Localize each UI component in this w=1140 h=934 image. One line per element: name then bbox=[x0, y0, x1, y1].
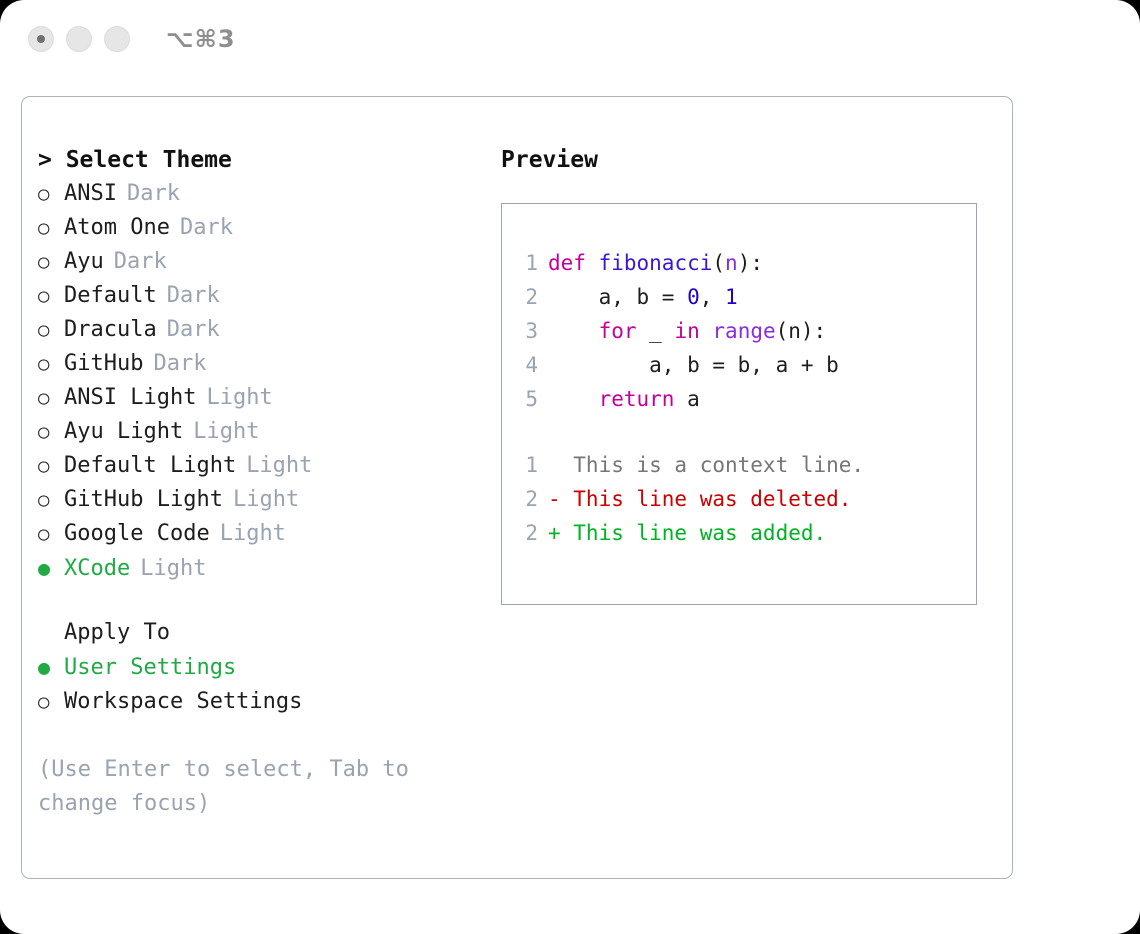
code-token bbox=[700, 319, 713, 343]
radio-selected-icon[interactable]: ● bbox=[38, 650, 64, 684]
code-token bbox=[548, 387, 599, 411]
app-window: ⌥⌘3 > Select Theme ○ANSIDark○Atom OneDar… bbox=[0, 0, 1140, 934]
window-dot-active-indicator bbox=[37, 35, 45, 43]
code-token: _ bbox=[637, 319, 675, 343]
theme-variant-tag: Dark bbox=[167, 313, 220, 347]
theme-list-item[interactable]: ○Ayu LightLight bbox=[38, 415, 478, 449]
apply-to-option[interactable]: ○Workspace Settings bbox=[38, 685, 478, 719]
radio-unselected-icon[interactable]: ○ bbox=[38, 211, 64, 245]
theme-list-item[interactable]: ○GitHubDark bbox=[38, 347, 478, 381]
theme-list-item[interactable]: ●XCodeLight bbox=[38, 551, 478, 586]
theme-list-item[interactable]: ○Google CodeLight bbox=[38, 517, 478, 551]
code-line-content: def fibonacci(n): bbox=[548, 246, 763, 280]
code-token: a, b = bbox=[548, 285, 687, 309]
code-token: ): bbox=[738, 251, 763, 275]
apply-to-option-label: User Settings bbox=[64, 651, 236, 685]
apply-to-option[interactable]: ●User Settings bbox=[38, 650, 478, 685]
code-token: , bbox=[700, 285, 725, 309]
code-line-content: return a bbox=[548, 382, 700, 416]
theme-variant-tag: Dark bbox=[114, 245, 167, 279]
theme-variant-tag: Light bbox=[233, 483, 299, 517]
code-token: n bbox=[725, 251, 738, 275]
theme-variant-tag: Dark bbox=[127, 177, 180, 211]
apply-to-section: Apply To ●User Settings○Workspace Settin… bbox=[38, 616, 478, 719]
diff-line-content: - This line was deleted. bbox=[548, 482, 851, 516]
theme-list-item[interactable]: ○Default LightLight bbox=[38, 449, 478, 483]
radio-unselected-icon[interactable]: ○ bbox=[38, 685, 64, 719]
theme-variant-tag: Light bbox=[206, 381, 272, 415]
theme-list[interactable]: ○ANSIDark○Atom OneDark○AyuDark○DefaultDa… bbox=[38, 177, 478, 586]
code-token: for bbox=[599, 319, 637, 343]
theme-name: ANSI Light bbox=[64, 381, 196, 415]
theme-name: Default Light bbox=[64, 449, 236, 483]
theme-list-item[interactable]: ○ANSIDark bbox=[38, 177, 478, 211]
radio-unselected-icon[interactable]: ○ bbox=[38, 517, 64, 551]
code-diff-spacer bbox=[502, 416, 976, 448]
radio-unselected-icon[interactable]: ○ bbox=[38, 177, 64, 211]
code-sample: 1def fibonacci(n):2 a, b = 0, 13 for _ i… bbox=[502, 246, 976, 416]
code-line-number: 3 bbox=[502, 314, 548, 348]
code-token: a, b = b, a + b bbox=[548, 353, 839, 377]
theme-name: Dracula bbox=[64, 313, 157, 347]
main-panel: > Select Theme ○ANSIDark○Atom OneDark○Ay… bbox=[21, 96, 1013, 879]
code-token: return bbox=[599, 387, 675, 411]
code-token: in bbox=[674, 319, 699, 343]
preview-box: 1def fibonacci(n):2 a, b = 0, 13 for _ i… bbox=[501, 203, 977, 605]
diff-line-number: 2 bbox=[502, 482, 548, 516]
code-line: 4 a, b = b, a + b bbox=[502, 348, 976, 382]
code-line: 3 for _ in range(n): bbox=[502, 314, 976, 348]
theme-name: Default bbox=[64, 279, 157, 313]
radio-unselected-icon[interactable]: ○ bbox=[38, 347, 64, 381]
diff-line-content: This is a context line. bbox=[548, 448, 864, 482]
code-token: range bbox=[712, 319, 775, 343]
code-token: a bbox=[674, 387, 699, 411]
code-token: 1 bbox=[725, 285, 738, 309]
theme-list-item[interactable]: ○ANSI LightLight bbox=[38, 381, 478, 415]
theme-name: Google Code bbox=[64, 517, 210, 551]
code-line-number: 2 bbox=[502, 280, 548, 314]
diff-line: 2- This line was deleted. bbox=[502, 482, 976, 516]
code-line-content: a, b = 0, 1 bbox=[548, 280, 738, 314]
diff-sample: 1 This is a context line.2- This line wa… bbox=[502, 448, 976, 550]
radio-unselected-icon[interactable]: ○ bbox=[38, 449, 64, 483]
select-theme-heading: > Select Theme bbox=[38, 143, 478, 177]
code-line: 5 return a bbox=[502, 382, 976, 416]
code-line-content: a, b = b, a + b bbox=[548, 348, 839, 382]
keyboard-hint-text: (Use Enter to select, Tab to change focu… bbox=[38, 753, 442, 821]
theme-name: GitHub Light bbox=[64, 483, 223, 517]
theme-list-item[interactable]: ○DraculaDark bbox=[38, 313, 478, 347]
preview-title: Preview bbox=[501, 143, 991, 177]
theme-list-item[interactable]: ○Atom OneDark bbox=[38, 211, 478, 245]
code-token: ( bbox=[712, 251, 725, 275]
code-line-number: 1 bbox=[502, 246, 548, 280]
theme-list-item[interactable]: ○DefaultDark bbox=[38, 279, 478, 313]
code-line: 1def fibonacci(n): bbox=[502, 246, 976, 280]
keyboard-shortcut-label: ⌥⌘3 bbox=[166, 25, 236, 53]
theme-name: XCode bbox=[64, 552, 130, 586]
theme-name: Ayu bbox=[64, 245, 104, 279]
theme-variant-tag: Light bbox=[220, 517, 286, 551]
theme-variant-tag: Light bbox=[193, 415, 259, 449]
theme-selector-column: > Select Theme ○ANSIDark○Atom OneDark○Ay… bbox=[38, 143, 478, 821]
code-token bbox=[586, 251, 599, 275]
theme-list-item[interactable]: ○AyuDark bbox=[38, 245, 478, 279]
diff-line-number: 1 bbox=[502, 448, 548, 482]
theme-list-item[interactable]: ○GitHub LightLight bbox=[38, 483, 478, 517]
theme-name: GitHub bbox=[64, 347, 143, 381]
theme-variant-tag: Dark bbox=[153, 347, 206, 381]
code-token: fibonacci bbox=[599, 251, 713, 275]
theme-variant-tag: Dark bbox=[180, 211, 233, 245]
radio-unselected-icon[interactable]: ○ bbox=[38, 279, 64, 313]
theme-name: Ayu Light bbox=[64, 415, 183, 449]
code-line-content: for _ in range(n): bbox=[548, 314, 826, 348]
radio-unselected-icon[interactable]: ○ bbox=[38, 245, 64, 279]
window-dot-maximize[interactable] bbox=[104, 26, 130, 52]
diff-line: 2+ This line was added. bbox=[502, 516, 976, 550]
code-token: 0 bbox=[687, 285, 700, 309]
radio-unselected-icon[interactable]: ○ bbox=[38, 381, 64, 415]
radio-unselected-icon[interactable]: ○ bbox=[38, 313, 64, 347]
window-dot-minimize[interactable] bbox=[66, 26, 92, 52]
code-line: 2 a, b = 0, 1 bbox=[502, 280, 976, 314]
theme-variant-tag: Dark bbox=[167, 279, 220, 313]
title-bar: ⌥⌘3 bbox=[0, 0, 1140, 78]
diff-line-content: + This line was added. bbox=[548, 516, 826, 550]
diff-line: 1 This is a context line. bbox=[502, 448, 976, 482]
apply-to-options[interactable]: ●User Settings○Workspace Settings bbox=[38, 650, 478, 719]
theme-name: Atom One bbox=[64, 211, 170, 245]
radio-selected-icon[interactable]: ● bbox=[38, 551, 64, 585]
diff-line-number: 2 bbox=[502, 516, 548, 550]
window-dot-close[interactable] bbox=[28, 26, 54, 52]
theme-variant-tag: Light bbox=[246, 449, 312, 483]
theme-name: ANSI bbox=[64, 177, 117, 211]
preview-column: Preview 1def fibonacci(n):2 a, b = 0, 13… bbox=[501, 143, 991, 605]
code-line-number: 4 bbox=[502, 348, 548, 382]
code-token bbox=[548, 319, 599, 343]
apply-to-option-label: Workspace Settings bbox=[64, 685, 302, 719]
code-token: (n): bbox=[776, 319, 827, 343]
code-token: def bbox=[548, 251, 586, 275]
theme-variant-tag: Light bbox=[140, 552, 206, 586]
apply-to-title: Apply To bbox=[38, 616, 478, 650]
radio-unselected-icon[interactable]: ○ bbox=[38, 483, 64, 517]
window-controls bbox=[28, 26, 130, 52]
code-line-number: 5 bbox=[502, 382, 548, 416]
radio-unselected-icon[interactable]: ○ bbox=[38, 415, 64, 449]
